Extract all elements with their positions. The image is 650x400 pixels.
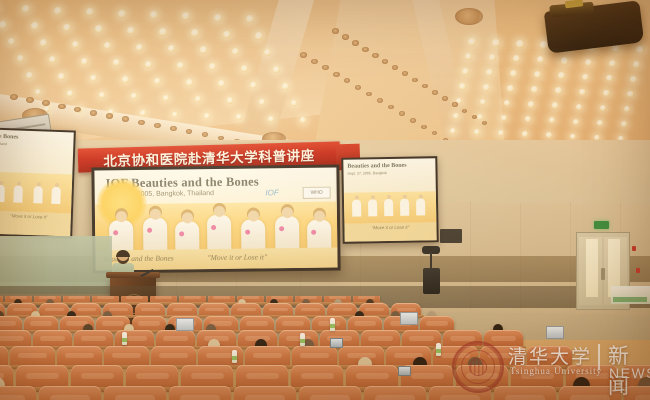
auditorium-seat[interactable] [0, 386, 36, 400]
lecture-hall-photo: the Bones Thailand "Move it or Lose it" … [0, 0, 650, 400]
wall-indicator-icon [632, 246, 636, 251]
wall-indicator-icon [636, 268, 640, 273]
auditorium-seat[interactable] [169, 386, 231, 400]
water-bottle [232, 350, 237, 363]
laptop [400, 312, 418, 325]
laptop [546, 326, 564, 339]
left-screen-band: "Move it or Lose it" [0, 211, 71, 237]
slide-photo-group [95, 202, 338, 253]
water-bottle [300, 333, 305, 346]
audience-seating [0, 296, 650, 400]
projection-screen-right: Beauties and the Bones Sept. 27, 2005, B… [341, 156, 438, 244]
right-screen-band: "Move it or Lose it" [344, 222, 436, 242]
auditorium-seat[interactable] [559, 386, 621, 400]
water-bottle [122, 332, 127, 345]
left-screen-title: the Bones [0, 134, 19, 141]
water-bottle [330, 318, 335, 331]
sponsor-logo: WHO [303, 187, 331, 199]
right-screen-photo [344, 191, 437, 224]
exit-sign-icon [594, 221, 609, 229]
right-screen-subtitle: Sept. 27, 2005, Bangkok [348, 171, 387, 176]
pa-speaker-icon [423, 268, 440, 294]
laptop [176, 318, 194, 331]
digital-camera [330, 338, 343, 348]
iof-logo: IOF [265, 188, 278, 197]
auditorium-seat[interactable] [234, 386, 296, 400]
right-screen-title: Beauties and the Bones [347, 163, 406, 170]
water-bottle [436, 343, 441, 356]
digital-camera [398, 366, 411, 376]
ceiling [0, 0, 650, 150]
auditorium-seat[interactable] [364, 386, 426, 400]
projection-screen-left: the Bones Thailand "Move it or Lose it" [0, 127, 76, 238]
auditorium-seat[interactable] [104, 386, 166, 400]
auditorium-seat[interactable] [624, 386, 650, 400]
wall-monitor [440, 229, 462, 243]
slide-band-right-text: "Move it or Lose it" [207, 252, 267, 262]
auditorium-seat[interactable] [494, 386, 556, 400]
auditorium-seat[interactable] [299, 386, 361, 400]
left-screen-photo [0, 171, 72, 213]
auditorium-seat[interactable] [39, 386, 101, 400]
auditorium-seat[interactable] [429, 386, 491, 400]
left-screen-subtitle: Thailand [0, 142, 7, 146]
